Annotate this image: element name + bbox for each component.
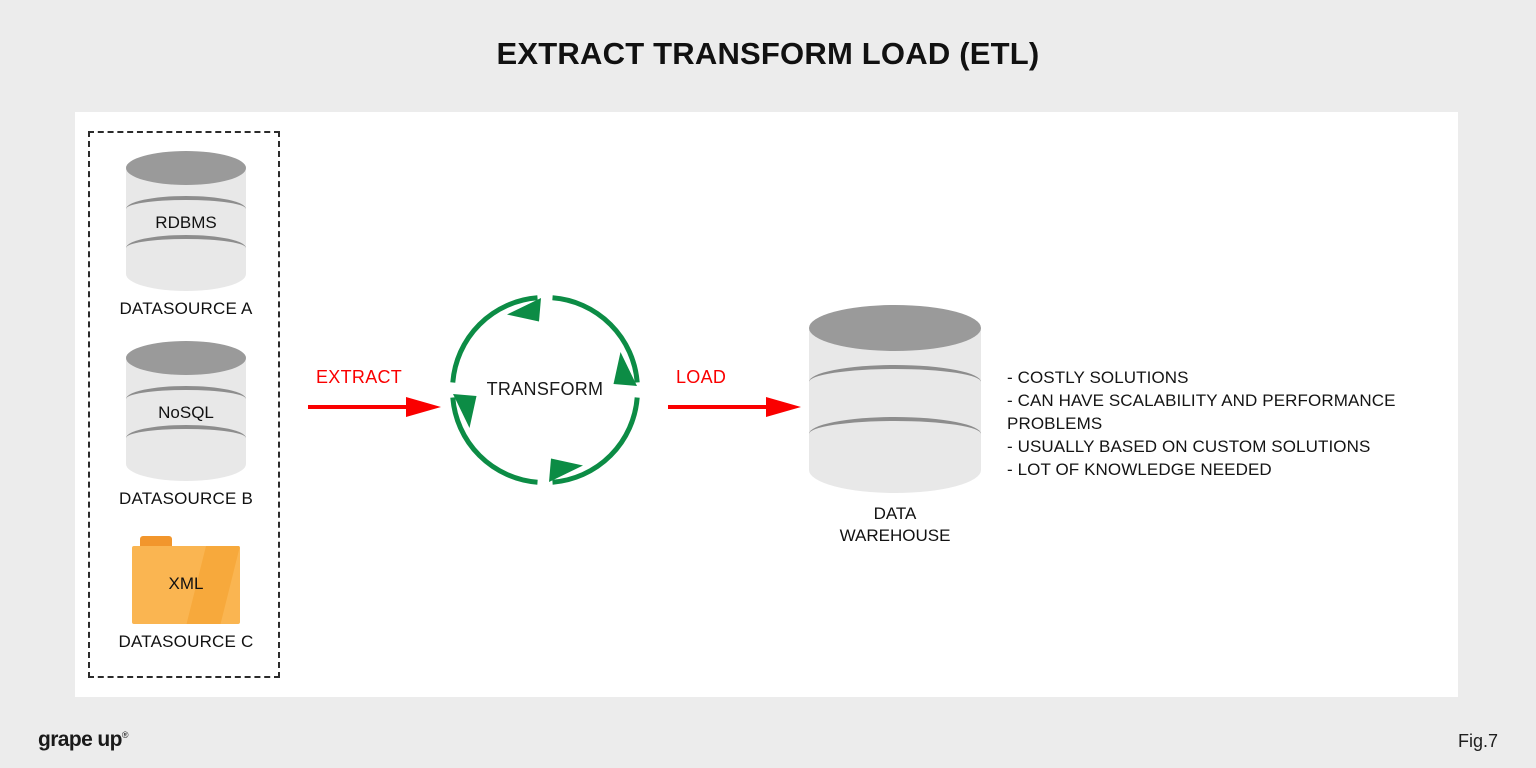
cylinder-band: [809, 365, 981, 399]
load-arrow-icon: [668, 395, 803, 419]
note-item: - USUALLY BASED ON CUSTOM SOLUTIONS: [1007, 435, 1437, 458]
load-arrow-group: LOAD: [668, 367, 803, 419]
datasource-c-caption: DATASOURCE C: [90, 632, 282, 652]
datasource-a-caption: DATASOURCE A: [90, 299, 282, 319]
datasource-c-type: XML: [132, 574, 240, 594]
registered-mark-icon: ®: [122, 730, 128, 740]
datasource-b: NoSQL DATASOURCE B: [90, 341, 282, 509]
cylinder-band: [126, 425, 246, 451]
cylinder-band: [126, 235, 246, 261]
cylinder-top: [809, 305, 981, 351]
datasource-b-type: NoSQL: [126, 403, 246, 423]
extract-arrow-group: EXTRACT: [308, 367, 443, 419]
datasource-b-caption: DATASOURCE B: [90, 489, 282, 509]
data-warehouse-caption-line1: DATA: [805, 503, 985, 525]
brand-logo-text: grape up: [38, 728, 122, 751]
note-item: - CAN HAVE SCALABILITY AND PERFORMANCE P…: [1007, 389, 1437, 435]
database-cylinder-icon: NoSQL: [126, 341, 246, 481]
cylinder-top: [126, 341, 246, 375]
datasource-a-type: RDBMS: [126, 213, 246, 233]
datasource-a: RDBMS DATASOURCE A: [90, 151, 282, 319]
folder-icon: XML: [132, 536, 240, 624]
data-warehouse-caption-line2: WAREHOUSE: [805, 525, 985, 547]
note-item: - LOT OF KNOWLEDGE NEEDED: [1007, 458, 1437, 481]
extract-label: EXTRACT: [308, 367, 443, 388]
warehouse-notes-list: - COSTLY SOLUTIONS - CAN HAVE SCALABILIT…: [1007, 366, 1437, 481]
transform-label: TRANSFORM: [445, 379, 645, 400]
diagram-canvas: RDBMS DATASOURCE A NoSQL DATASOURCE B: [75, 112, 1458, 697]
datasources-group: RDBMS DATASOURCE A NoSQL DATASOURCE B: [88, 131, 280, 678]
datasource-c: XML DATASOURCE C: [90, 536, 282, 652]
warehouse-cylinder-icon: [809, 305, 981, 493]
extract-arrow-icon: [308, 395, 443, 419]
transform-cycle: TRANSFORM: [445, 290, 645, 490]
cylinder-band: [809, 417, 981, 451]
figure-number: Fig.7: [1458, 731, 1498, 752]
cylinder-top: [126, 151, 246, 185]
data-warehouse-caption: DATA WAREHOUSE: [805, 503, 985, 547]
brand-logo: grape up®: [38, 728, 128, 752]
load-label: LOAD: [668, 367, 803, 388]
note-item: - COSTLY SOLUTIONS: [1007, 366, 1437, 389]
data-warehouse: DATA WAREHOUSE: [805, 305, 985, 547]
database-cylinder-icon: RDBMS: [126, 151, 246, 291]
page-title: EXTRACT TRANSFORM LOAD (ETL): [0, 36, 1536, 72]
